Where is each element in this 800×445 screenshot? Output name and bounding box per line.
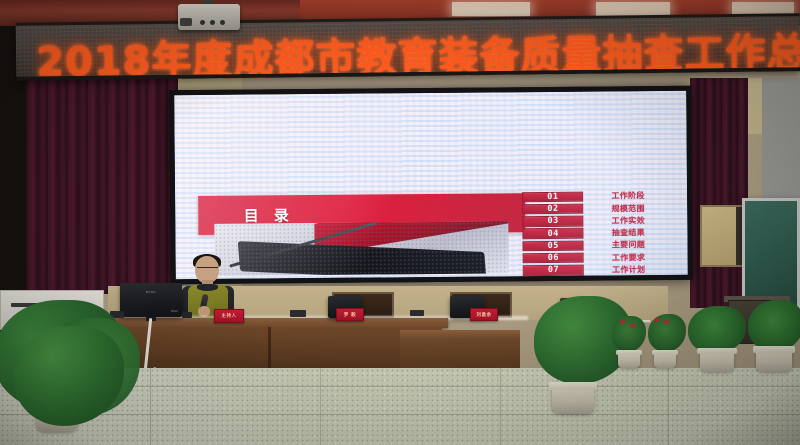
nameplate-3: 刘昌余 [470, 308, 498, 321]
pot-rim [652, 350, 678, 355]
led-banner-text: 2018年度成都市教育装备质量抽查工作总结暨质量专题培训 [36, 16, 800, 81]
pot-rim [549, 382, 598, 390]
projector-vent-2 [210, 20, 215, 25]
toc-row: 06 工作要求 [523, 252, 667, 264]
toc-label: 工作阶段 [589, 190, 667, 202]
flower-bloom-4 [664, 320, 669, 324]
ceiling-projector [178, 4, 240, 30]
nameplate-text: 罗 毅 [344, 312, 356, 318]
presentation-screen: 目 录 01 工作阶段 02 规模范围 03 [169, 86, 693, 285]
stage-curtain-right [690, 78, 748, 308]
flower-bloom-2 [630, 324, 635, 328]
plant-pot-flower-2 [654, 350, 676, 368]
nameplate-host: 主持人 [214, 309, 244, 323]
led-banner: 2018年度成都市教育装备质量抽查工作总结暨质量专题培训 [16, 13, 800, 81]
toc-number: 06 [523, 253, 584, 264]
ceiling-light-2 [596, 2, 670, 16]
toc-row: 01 工作阶段 [523, 191, 667, 203]
plant-pot-right-2 [756, 346, 792, 372]
desk-object-2 [182, 312, 192, 318]
glasses-icon [197, 267, 218, 271]
ceiling-light-1 [452, 2, 530, 16]
toc-number: 01 [523, 191, 584, 202]
toc-row: 05 主要问题 [523, 240, 667, 252]
slide-content: 目 录 01 工作阶段 02 规模范围 03 [190, 192, 672, 277]
toc-number: 02 [523, 204, 584, 215]
monitor-brand-label: BENQ [146, 290, 156, 294]
plant-pot-flower-1 [618, 350, 640, 368]
wall-panel-grey-4 [762, 78, 800, 138]
projector-lens-icon [180, 18, 192, 26]
floor-seam-v2 [320, 368, 321, 445]
toc-row: 07 工作计划 [523, 264, 667, 276]
plant-pot-right-1 [700, 348, 734, 372]
projector-vent-3 [220, 20, 225, 25]
laptop-base-shape [238, 241, 486, 276]
nameplate-text: 主持人 [221, 313, 236, 319]
plant-foliage-right-2 [748, 300, 800, 352]
toc-label: 工作计划 [590, 264, 668, 276]
toc-number: 05 [523, 240, 584, 251]
floor-seam-h2 [0, 414, 800, 415]
desk-object-4 [410, 310, 424, 316]
toc-label: 工作实效 [589, 215, 667, 227]
pot-rim [753, 346, 795, 353]
floor-seam-v4 [668, 368, 669, 445]
floor-seam-v3 [500, 368, 501, 445]
toc-label: 规模范围 [589, 203, 667, 215]
slide-photo [215, 221, 509, 275]
toc-number: 04 [523, 228, 584, 239]
flower-bloom-3 [654, 318, 659, 322]
projector-vent-1 [200, 20, 205, 25]
toc-label: 工作要求 [590, 252, 668, 264]
pot-rim [697, 348, 736, 354]
presenter-collar [197, 284, 218, 291]
stage-curtain-left [8, 72, 178, 294]
monitor-badge: ECO [171, 309, 177, 313]
toc-number: 07 [523, 265, 584, 276]
pot-rim [616, 350, 642, 355]
photo-scene: 2018年度成都市教育装备质量抽查工作总结暨质量专题培训 目 录 01 [0, 0, 800, 445]
monitor-1: BENQ ECO [120, 283, 182, 317]
plant-pot-center [552, 382, 594, 414]
toc-row: 04 抽查结果 [523, 227, 667, 239]
floor-seam-v1 [150, 368, 151, 445]
desk-object-3 [290, 310, 306, 317]
nameplate-2: 罗 毅 [336, 308, 364, 321]
toc-label: 主要问题 [590, 239, 668, 251]
wall-panel-grey-5 [762, 138, 800, 200]
slide-toc-list: 01 工作阶段 02 规模范围 03 工作实效 04 抽查结果 05 主要问 [523, 191, 668, 276]
flower-bloom-1 [620, 320, 625, 324]
nameplate-text: 刘昌余 [476, 312, 491, 318]
toc-label: 抽查结果 [589, 227, 667, 239]
toc-row: 02 规模范围 [523, 203, 667, 215]
toc-number: 03 [523, 216, 584, 227]
toc-row: 03 工作实效 [523, 215, 667, 227]
